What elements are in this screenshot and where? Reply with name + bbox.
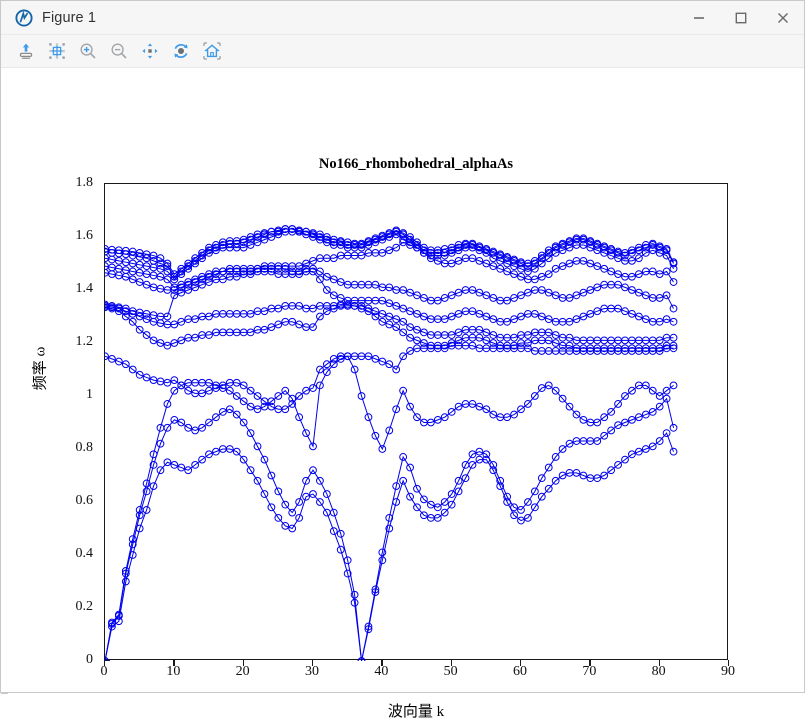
title-bar[interactable]: Figure 1	[1, 1, 804, 35]
y-tick-label: 1.4	[53, 281, 93, 297]
reset-view-button[interactable]	[168, 38, 194, 64]
save-figure-button[interactable]	[13, 38, 39, 64]
x-axis-label: 波向量 k	[104, 700, 728, 721]
branch-4-optical	[105, 342, 677, 412]
home-icon	[202, 41, 222, 61]
x-tick-label: 70	[567, 664, 611, 680]
y-tick-label: 0.4	[53, 546, 93, 562]
minimize-button[interactable]	[678, 1, 720, 34]
page-title: No166_rhombohedral_alphaAs	[104, 156, 728, 173]
x-tick-label: 20	[221, 664, 265, 680]
navigation-toolbar	[1, 35, 804, 68]
x-tick-label: 10	[151, 664, 195, 680]
y-axis-label: 频率 ω	[29, 309, 50, 429]
y-tick-label: 1	[53, 387, 93, 403]
band-structure-lines	[105, 184, 729, 661]
x-tick-label: 80	[637, 664, 681, 680]
upload-icon	[16, 41, 36, 61]
pan-button[interactable]	[137, 38, 163, 64]
x-tick-label: 0	[82, 664, 126, 680]
refresh-icon	[171, 41, 191, 61]
zoom-out-button[interactable]	[106, 38, 132, 64]
window-controls	[678, 1, 804, 34]
configure-subplots-button[interactable]	[44, 38, 70, 64]
matplotlib-icon	[15, 9, 33, 27]
figure-window: Figure 1	[0, 0, 805, 693]
branch-5-optical	[105, 303, 677, 352]
y-tick-label: 1.2	[53, 334, 93, 350]
x-tick-label: 50	[429, 664, 473, 680]
x-tick-label: 40	[359, 664, 403, 680]
pan-arrows-icon	[140, 41, 160, 61]
branch-2-acoustic	[105, 395, 677, 661]
x-tick-label: 60	[498, 664, 542, 680]
y-tick-label: 1.6	[53, 228, 93, 244]
maximize-button[interactable]	[720, 1, 762, 34]
branch-1-acoustic	[105, 430, 677, 661]
magnifier-plus-icon	[78, 41, 98, 61]
y-tick-label: 0.6	[53, 493, 93, 509]
figure-canvas[interactable]: No166_rhombohedral_alphaAs 频率 ω 波向量 k 00…	[1, 68, 804, 692]
close-button[interactable]	[762, 1, 804, 34]
plot-area[interactable]	[104, 183, 728, 660]
y-tick-label: 0.2	[53, 599, 93, 615]
magnifier-minus-icon	[109, 41, 129, 61]
y-tick-label: 1.8	[53, 175, 93, 191]
window-title: Figure 1	[42, 10, 96, 26]
home-button[interactable]	[199, 38, 225, 64]
zoom-in-button[interactable]	[75, 38, 101, 64]
x-tick-label: 90	[706, 664, 750, 680]
grid-crosshair-icon	[47, 41, 67, 61]
y-tick-label: 0.8	[53, 440, 93, 456]
x-tick-label: 30	[290, 664, 334, 680]
branch-3-acoustic	[105, 353, 677, 661]
